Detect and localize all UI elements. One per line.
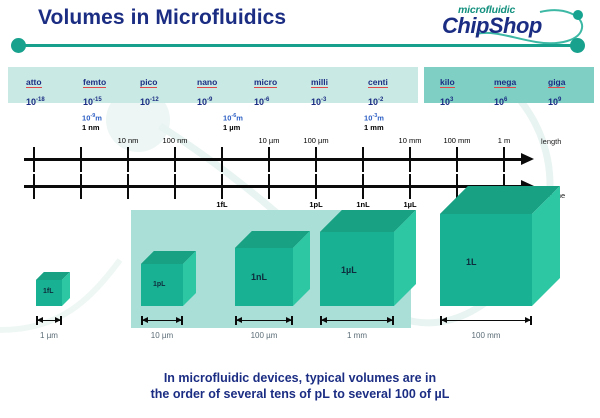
prefix-name: nano: [197, 77, 217, 88]
prefix-name: micro: [254, 77, 277, 88]
dimension-bar: [320, 320, 394, 322]
prefix-name: giga: [548, 77, 565, 88]
prefix-exponent: 10-2: [368, 95, 430, 107]
dimension-arrowhead-right-icon: [176, 317, 182, 323]
caption-line-2: the order of several tens of pL to sever…: [0, 386, 600, 402]
prefix-cell-atto: atto10-18: [26, 72, 88, 107]
header-divider: [22, 44, 578, 47]
prefix-cell-micro: micro10-6: [254, 72, 316, 107]
prefix-cell-centi: centi10-2: [368, 72, 430, 107]
prefix-name: atto: [26, 77, 42, 88]
caption: In microfluidic devices, typical volumes…: [0, 370, 600, 402]
prefix-exponent: 10-12: [140, 95, 202, 107]
cube-dimension-arrow: [36, 316, 62, 324]
cube-group-1nL: 1nL100 µm: [235, 200, 310, 340]
length-axis-tick: [174, 147, 176, 172]
cube-edge-length-label: 1 mm: [347, 331, 367, 340]
prefix-name: femto: [83, 77, 106, 88]
prefix-exponent: 10-3: [311, 95, 373, 107]
length-axis-tick-label: 100 mm: [443, 136, 470, 145]
volume-cube: [440, 186, 560, 306]
prefix-name: centi: [368, 77, 388, 88]
prefix-exponent: 10-6: [254, 95, 316, 107]
dimension-arrowhead-right-icon: [387, 317, 393, 323]
length-axis-label-major: 10-3m1 mm: [364, 112, 384, 133]
volume-cube: [141, 251, 196, 306]
dimension-arrowhead-right-icon: [525, 317, 531, 323]
prefix-cell-pico: pico10-12: [140, 72, 202, 107]
slide-root: Volumes in Microfluidics microfluidic Ch…: [0, 0, 600, 418]
cube-group-1L: 1L100 mm: [440, 200, 560, 340]
cube-edge-length-label: 1 µm: [40, 331, 58, 340]
cube-volume-label: 1fL: [43, 288, 54, 295]
cube-group-1fL: 1fL1 µm: [36, 200, 70, 340]
dimension-arrowhead-left-icon: [321, 317, 327, 323]
prefix-cell-kilo: kilo103: [440, 72, 502, 107]
dimension-arrowhead-right-icon: [55, 317, 61, 323]
prefix-table-large-units: kilo103mega106giga109: [424, 67, 594, 103]
length-axis-tick: [221, 147, 223, 172]
prefix-cell-mega: mega106: [494, 72, 556, 107]
prefix-name: kilo: [440, 77, 455, 88]
dimension-arrowhead-left-icon: [236, 317, 242, 323]
dimension-bar: [440, 320, 532, 322]
cube-front-face: [320, 232, 394, 306]
prefix-cell-nano: nano10-9: [197, 72, 259, 107]
dimension-arrowhead-right-icon: [286, 317, 292, 323]
prefix-cell-giga: giga109: [548, 72, 600, 107]
dimension-arrowhead-left-icon: [37, 317, 43, 323]
length-axis-tick: [409, 147, 411, 172]
length-axis-tick-label: 1 m: [498, 136, 511, 145]
length-axis-label-major: 10-9m1 nm: [82, 112, 102, 133]
dimension-bar: [235, 320, 293, 322]
length-axis-tick: [456, 147, 458, 172]
cube-dimension-arrow: [440, 316, 532, 324]
prefix-exponent: 10-9: [197, 95, 259, 107]
cube-front-face: [440, 214, 532, 306]
volume-axis-tick: [127, 174, 129, 199]
dimension-arrowhead-left-icon: [142, 317, 148, 323]
page-title: Volumes in Microfluidics: [38, 6, 286, 30]
volume-axis-tick: [33, 174, 35, 199]
prefix-cell-femto: femto10-15: [83, 72, 145, 107]
length-axis-tick-label: 100 nm: [162, 136, 187, 145]
cube-volume-label: 1L: [466, 257, 477, 267]
prefix-name: pico: [140, 77, 157, 88]
volume-axis-tick: [362, 174, 364, 199]
cube-group-1µL: 1µL1 mm: [320, 200, 416, 340]
prefix-exponent: 103: [440, 95, 502, 107]
volume-axis-tick: [80, 174, 82, 199]
volume-axis-tick: [409, 174, 411, 199]
length-axis-tick: [80, 147, 82, 172]
dimension-arrowhead-left-icon: [441, 317, 447, 323]
cube-comparison-area: 1fL1 µm1pL10 µm1nL100 µm1µL1 mm1L100 mm: [0, 200, 600, 340]
length-axis-tick: [33, 147, 35, 172]
prefix-name: milli: [311, 77, 328, 88]
length-axis-tick-label: 100 µm: [303, 136, 328, 145]
prefix-cell-milli: milli10-3: [311, 72, 373, 107]
cube-edge-length-label: 100 mm: [472, 331, 501, 340]
prefix-table-small-units: atto10-18femto10-15pico10-12nano10-9micr…: [8, 67, 418, 103]
prefix-exponent: 109: [548, 95, 600, 107]
logo-chipshop-text: ChipShop: [442, 13, 542, 39]
caption-line-1: In microfluidic devices, typical volumes…: [0, 370, 600, 386]
length-axis-line: [24, 158, 524, 161]
length-axis-tick-label: 10 nm: [118, 136, 139, 145]
length-axis-label-major: 10-6m1 µm: [223, 112, 243, 133]
cube-dimension-arrow: [320, 316, 394, 324]
cube-volume-label: 1µL: [341, 265, 357, 275]
cube-dimension-arrow: [235, 316, 293, 324]
cube-volume-label: 1pL: [153, 281, 165, 288]
prefix-exponent: 106: [494, 95, 556, 107]
length-axis-tick-label: 10 mm: [399, 136, 422, 145]
length-axis-tick: [362, 147, 364, 172]
cube-dimension-arrow: [141, 316, 183, 324]
header-divider-dot-left: [11, 38, 26, 53]
length-axis-tick: [503, 147, 505, 172]
prefix-exponent: 10-15: [83, 95, 145, 107]
cube-group-1pL: 1pL10 µm: [141, 200, 196, 340]
volume-axis-tick: [221, 174, 223, 199]
volume-cube: [235, 231, 310, 306]
length-axis-tick: [315, 147, 317, 172]
length-axis-label: length: [541, 137, 561, 146]
prefix-exponent: 10-18: [26, 95, 88, 107]
length-axis-tick-label: 10 µm: [259, 136, 280, 145]
logo: microfluidic ChipShop: [432, 4, 592, 46]
prefix-name: mega: [494, 77, 516, 88]
volume-axis-tick: [315, 174, 317, 199]
volume-axis-tick: [268, 174, 270, 199]
header-divider-dot-right: [570, 38, 585, 53]
cube-edge-length-label: 100 µm: [251, 331, 278, 340]
cube-volume-label: 1nL: [251, 272, 267, 282]
volume-cube: [320, 210, 416, 306]
length-axis-tick: [127, 147, 129, 172]
length-axis-arrow-icon: [521, 153, 534, 165]
cube-edge-length-label: 10 µm: [151, 331, 173, 340]
volume-axis-tick: [174, 174, 176, 199]
length-axis-tick: [268, 147, 270, 172]
